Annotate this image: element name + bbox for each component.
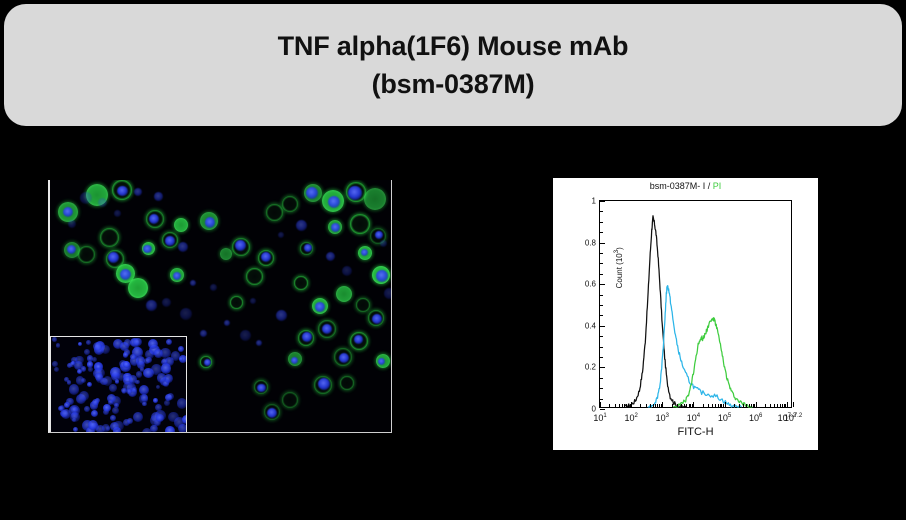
x-tick-mark [600, 402, 601, 407]
stained-cell [266, 204, 283, 221]
inset-nucleus [101, 345, 110, 354]
flow-chart-title: bsm-0387M- I / PI [553, 181, 818, 191]
inset-nucleus [70, 412, 80, 422]
stained-cell [230, 296, 243, 309]
cell-nucleus [257, 384, 265, 392]
inset-nucleus [121, 388, 126, 393]
inset-nucleus [87, 382, 92, 387]
cell-nucleus [117, 186, 127, 196]
stained-cell [282, 392, 298, 408]
x-minor-tick [640, 404, 641, 407]
free-nucleus [154, 192, 163, 201]
x-minor-tick [677, 404, 678, 407]
x-tick-label: 107.2 [784, 413, 802, 423]
cell-nucleus [348, 186, 361, 199]
inset-nucleus [52, 337, 57, 342]
free-nucleus [342, 266, 352, 276]
y-tick-label: 0.8 [585, 238, 596, 247]
free-nucleus [146, 300, 157, 311]
x-minor-tick [770, 404, 771, 407]
x-minor-tick [653, 404, 654, 407]
x-minor-tick [655, 404, 656, 407]
inset-nucleus [178, 346, 184, 352]
y-tick-mark [600, 284, 605, 285]
inset-nucleus [81, 378, 87, 384]
title-line-2: (bsm-0387M) [278, 65, 629, 103]
y-minor-tick [600, 274, 603, 275]
inset-nucleus [178, 424, 187, 433]
cell-nucleus [165, 236, 175, 246]
figure-page: TNF alpha(1F6) Mouse mAb (bsm-0387M) bsm… [0, 0, 906, 520]
inset-nucleus [161, 363, 171, 373]
inset-nucleus [78, 342, 82, 346]
y-tick-mark [600, 243, 605, 244]
inset-nucleus [86, 340, 91, 345]
inset-nucleus [150, 425, 157, 432]
x-tick-mark [631, 402, 632, 407]
x-minor-tick [734, 404, 735, 407]
inset-nucleus [69, 362, 74, 367]
y-minor-tick [600, 211, 603, 212]
free-nucleus [380, 240, 387, 247]
stained-cell [340, 376, 354, 390]
histogram-curves [600, 201, 791, 407]
free-nucleus [256, 340, 262, 346]
y-minor-tick [600, 295, 603, 296]
inset-nucleus [109, 384, 117, 392]
inset-nucleus [144, 358, 150, 364]
y-minor-tick [600, 347, 603, 348]
x-minor-tick [624, 404, 625, 407]
inset-nucleus [73, 427, 78, 432]
x-minor-tick [619, 404, 620, 407]
inset-nucleus [79, 391, 89, 401]
inset-nucleus [164, 400, 170, 406]
x-minor-tick [774, 404, 775, 407]
x-minor-tick [609, 404, 610, 407]
x-minor-tick [681, 404, 682, 407]
inset-nucleus [112, 407, 119, 414]
stained-cell [174, 218, 188, 232]
inset-nucleus [166, 339, 172, 345]
y-minor-tick [600, 222, 603, 223]
cell-nucleus [375, 231, 383, 239]
free-nucleus [224, 320, 230, 326]
y-minor-tick [600, 305, 603, 306]
x-tick-label: 103 [656, 413, 669, 423]
y-tick-label: 0.6 [585, 280, 596, 289]
cell-nucleus [331, 223, 340, 232]
x-minor-tick [777, 404, 778, 407]
stained-cell [356, 298, 370, 312]
cell-nucleus [205, 217, 216, 228]
inset-nucleus [92, 399, 99, 406]
y-minor-tick [600, 399, 603, 400]
x-minor-tick [739, 404, 740, 407]
cell-nucleus [322, 324, 332, 334]
histogram-curve-bsm-0387M-PI [673, 318, 752, 407]
inset-nucleus [88, 367, 92, 371]
free-nucleus [240, 330, 251, 341]
x-minor-tick [765, 404, 766, 407]
cell-nucleus [315, 302, 325, 312]
inset-nucleus [114, 403, 119, 408]
cell-nucleus [354, 335, 363, 344]
free-nucleus [210, 284, 217, 291]
inset-nucleus [156, 385, 161, 390]
cell-nucleus [67, 245, 76, 254]
x-minor-tick [650, 404, 651, 407]
y-minor-tick [600, 357, 603, 358]
x-minor-tick [672, 404, 673, 407]
x-minor-tick [743, 404, 744, 407]
cell-nucleus [204, 359, 211, 366]
histogram-curve-secondary-only [648, 286, 742, 407]
inset-nucleus [162, 358, 168, 364]
inset-nucleus [127, 418, 133, 424]
inset-nucleus [182, 415, 187, 424]
y-tick-label: 1 [592, 197, 596, 206]
x-minor-tick [715, 404, 716, 407]
stained-cell [128, 278, 148, 298]
y-minor-tick [600, 378, 603, 379]
inset-nucleus [84, 406, 90, 412]
cell-nucleus [302, 332, 312, 342]
inset-nucleus [95, 373, 103, 381]
x-tick-mark [662, 402, 663, 407]
flow-title-main: bsm-0387M- I / [650, 181, 711, 191]
stained-cell [294, 276, 308, 290]
cell-nucleus [291, 357, 298, 364]
free-nucleus [134, 188, 142, 196]
inset-nucleus [124, 339, 131, 346]
x-tick-label: 101 [593, 413, 606, 423]
cell-nucleus [267, 408, 277, 418]
y-tick-mark [600, 409, 605, 410]
flow-cytometry-panel: bsm-0387M- I / PI Count (103) 00.20.40.6… [553, 178, 818, 450]
histogram-curve-unstained-control [625, 216, 687, 407]
inset-nucleus [139, 385, 149, 395]
x-minor-tick [622, 404, 623, 407]
stained-cell [364, 188, 386, 210]
stained-cell [336, 286, 352, 302]
free-nucleus [278, 232, 284, 238]
cell-nucleus [63, 207, 73, 217]
free-nucleus [276, 310, 287, 321]
y-tick-label: 0.4 [585, 321, 596, 330]
cell-nucleus [376, 270, 388, 282]
cell-nucleus [361, 249, 368, 256]
inset-nucleus [130, 354, 136, 360]
free-nucleus [162, 298, 171, 307]
x-tick-label: 106 [749, 413, 762, 423]
x-tick-mark [793, 402, 794, 407]
inset-nucleus [87, 361, 94, 368]
x-tick-label: 104 [687, 413, 700, 423]
inset-nucleus [54, 367, 59, 372]
x-minor-tick [749, 404, 750, 407]
x-minor-tick [718, 404, 719, 407]
y-minor-tick [600, 388, 603, 389]
inset-nucleus [123, 352, 129, 358]
inset-nucleus [123, 361, 130, 368]
y-minor-tick [600, 315, 603, 316]
free-nucleus [114, 210, 121, 217]
immunofluorescence-micrograph [48, 180, 392, 433]
x-minor-tick [615, 404, 616, 407]
y-tick-label: 0.2 [585, 363, 596, 372]
page-title: TNF alpha(1F6) Mouse mAb (bsm-0387M) [278, 27, 629, 104]
cell-nucleus [173, 272, 181, 280]
y-minor-tick [600, 253, 603, 254]
inset-nucleus [61, 409, 71, 419]
title-banner: TNF alpha(1F6) Mouse mAb (bsm-0387M) [4, 4, 902, 126]
inset-nucleus [153, 398, 158, 403]
x-tick-label: 102 [624, 413, 637, 423]
inset-nucleus [126, 389, 131, 394]
y-minor-tick [600, 263, 603, 264]
inset-nucleus [165, 426, 174, 433]
flow-title-pi: PI [713, 181, 722, 191]
inset-nucleus [142, 402, 147, 407]
cell-nucleus [149, 214, 159, 224]
x-minor-tick [712, 404, 713, 407]
x-tick-mark [756, 402, 757, 407]
inset-nucleus [110, 367, 121, 378]
free-nucleus [250, 298, 256, 304]
x-tick-mark [787, 402, 788, 407]
x-minor-tick [703, 404, 704, 407]
stained-cell [100, 228, 119, 247]
stained-cell [246, 268, 263, 285]
cell-nucleus [318, 378, 330, 390]
free-nucleus [326, 252, 335, 261]
inset-nucleus [154, 349, 163, 358]
x-minor-tick [684, 404, 685, 407]
y-tick-mark [600, 201, 605, 202]
x-tick-mark [725, 402, 726, 407]
free-nucleus [190, 280, 196, 286]
free-nucleus [180, 308, 192, 320]
free-nucleus [178, 242, 188, 252]
inset-nucleus [167, 393, 174, 400]
cell-nucleus [304, 244, 312, 252]
inset-nucleus [136, 371, 142, 377]
x-minor-tick [746, 404, 747, 407]
x-minor-tick [686, 404, 687, 407]
cell-nucleus [143, 245, 151, 253]
x-minor-tick [646, 404, 647, 407]
free-nucleus [80, 192, 92, 204]
cell-nucleus [328, 196, 340, 208]
inset-nucleus [156, 414, 164, 422]
free-nucleus [98, 198, 107, 207]
inset-nucleus [110, 415, 116, 421]
inset-nucleus [69, 384, 79, 394]
inset-nucleus [141, 394, 148, 401]
dapi-control-inset [50, 336, 187, 433]
y-minor-tick [600, 326, 603, 327]
inset-nucleus [91, 410, 98, 417]
x-minor-tick [780, 404, 781, 407]
x-axis-label: FITC-H [599, 426, 792, 438]
title-line-1: TNF alpha(1F6) Mouse mAb [278, 27, 629, 65]
inset-nucleus [177, 398, 187, 408]
x-tick-mark [693, 402, 694, 407]
x-tick-label: 105 [718, 413, 731, 423]
inset-nucleus [108, 400, 113, 405]
y-minor-tick [600, 232, 603, 233]
stained-cell [350, 214, 370, 234]
inset-nucleus [133, 412, 143, 422]
histogram-plot-area: Count (103) 00.20.40.60.8110110210310410… [599, 200, 792, 408]
y-tick-mark [600, 367, 605, 368]
inset-nucleus [56, 343, 60, 347]
inset-nucleus [77, 369, 82, 374]
y-minor-tick [600, 336, 603, 337]
inset-nucleus [133, 338, 141, 346]
free-nucleus [200, 330, 207, 337]
free-nucleus [384, 288, 392, 299]
stained-cell [282, 196, 298, 212]
free-nucleus [68, 220, 76, 228]
x-minor-tick [708, 404, 709, 407]
free-nucleus [296, 220, 307, 231]
stained-cell [78, 246, 95, 263]
stained-cell [220, 248, 232, 260]
